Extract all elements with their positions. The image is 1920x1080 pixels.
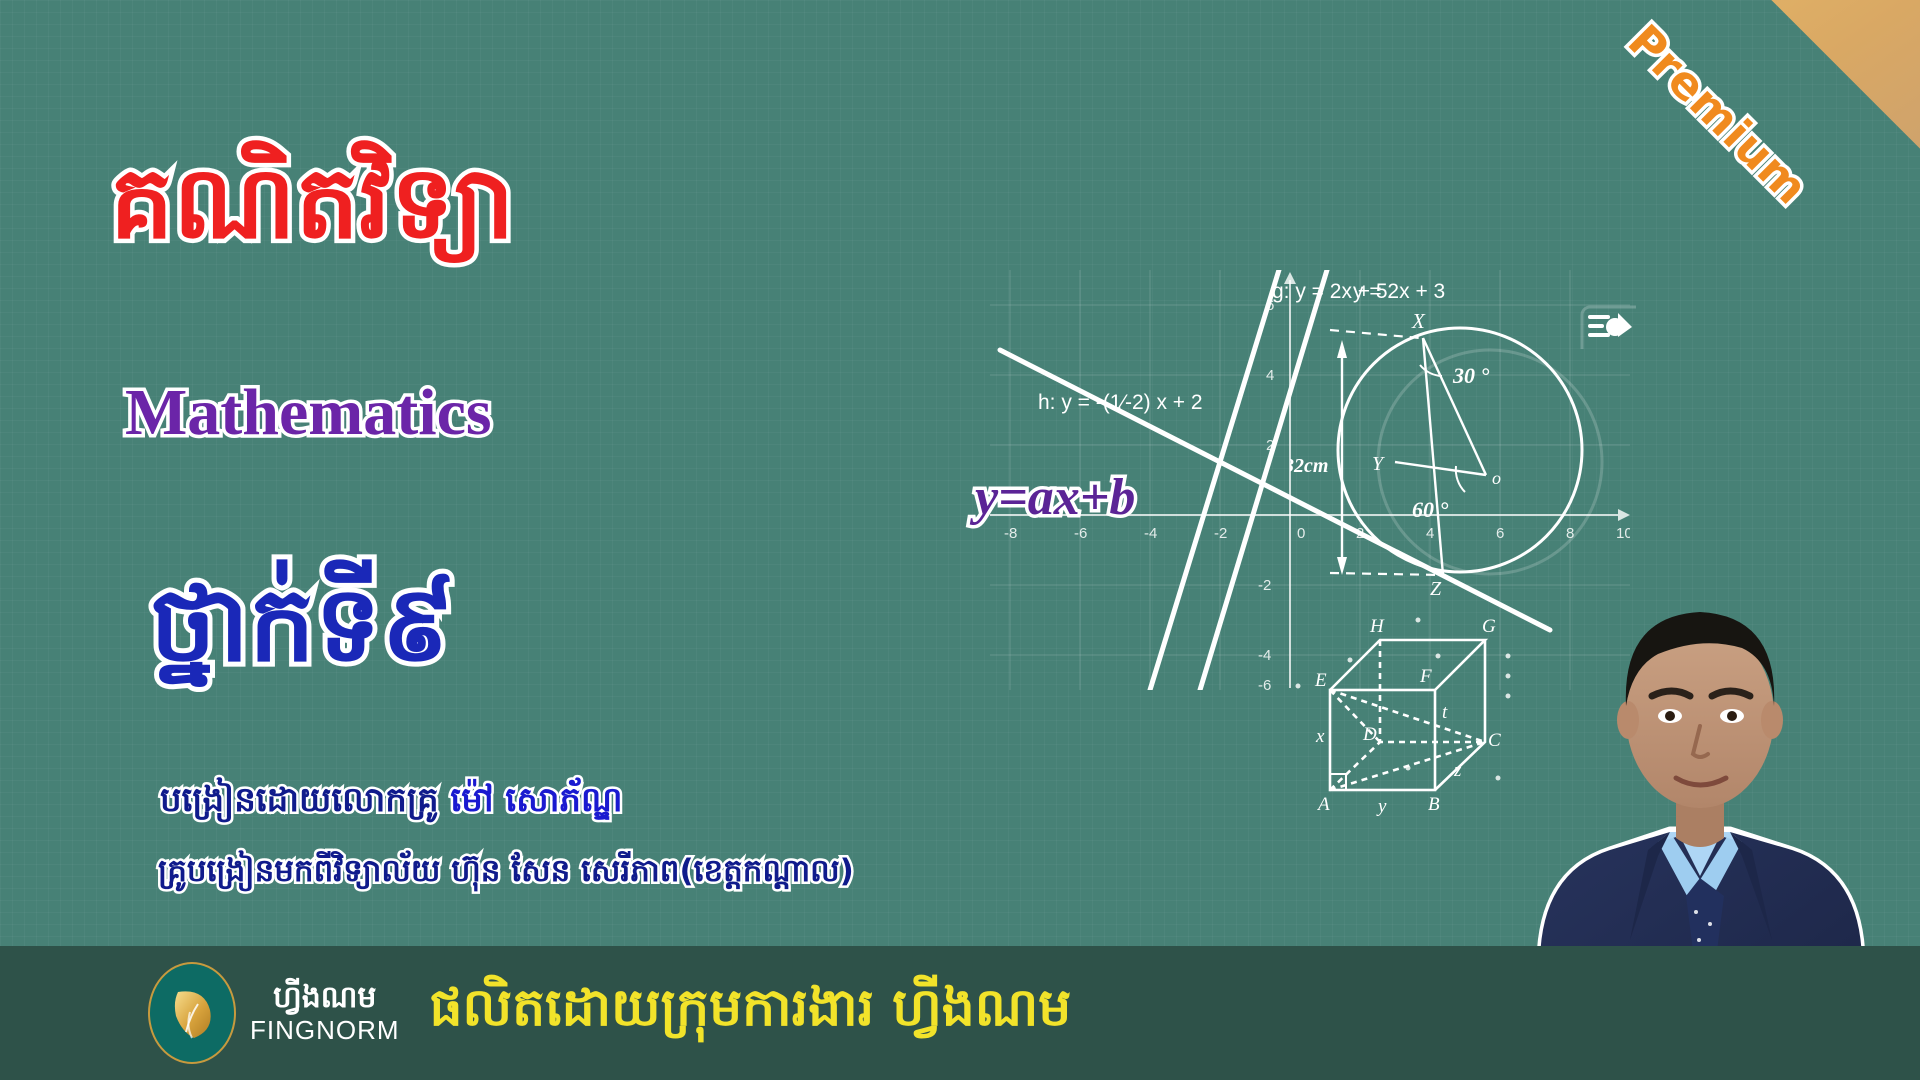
grade-label: ថ្នាក់ទី៩ [150,570,455,679]
svg-text:-8: -8 [1004,525,1017,542]
fingnorm-logo-text: ហ្វីងណម FINGNORM [250,983,400,1043]
cube-edge-z: z [1453,760,1462,781]
svg-text:-4: -4 [1144,525,1157,542]
slide-canvas: -8 -6 -4 -2 0 2 4 6 8 10 6 4 2 -2 -4 -6 … [0,0,1920,1080]
fingnorm-logo-icon [148,962,236,1064]
teacher-credit-line: បង្រៀនដោយលោកគ្រូ ម៉ៅ សោភ័ណ្ឌ [160,778,622,828]
svg-text:-6: -6 [1258,677,1271,690]
angle-30: 30 ° [1452,363,1490,388]
label-Y: Y [1372,453,1385,475]
page-title-english: Mathematics [125,375,492,451]
logo-khmer-name: ហ្វីងណម [273,983,376,1013]
cube-label-F: F [1419,666,1432,687]
label-X: X [1411,309,1426,333]
label-Z: Z [1430,578,1442,600]
svg-text:-6: -6 [1074,525,1087,542]
measure-32cm: 32cm [1290,455,1328,477]
svg-text:4: 4 [1266,367,1274,384]
cube-edge-x: x [1315,726,1325,747]
formula-badge: y=ax+b [975,468,1135,527]
label-o: o [1492,468,1501,488]
cube-label-B: B [1428,794,1440,815]
svg-text:-4: -4 [1258,647,1271,664]
footer-credit-text: ផលិតដោយក្រុមការងារ ហ្វីងណម [430,975,1072,1051]
svg-text:-2: -2 [1214,525,1227,542]
cube-label-E: E [1314,670,1327,691]
premium-ribbon: Premium [1460,0,1920,300]
note-cursor-icon [1580,305,1640,353]
footer-banner: ហ្វីងណម FINGNORM ផលិតដោយក្រុមការងារ ហ្វី… [0,946,1920,1080]
cube-label-A: A [1316,794,1330,815]
school-credit-line: គ្រូបង្រៀនមកពីវិទ្យាល័យ ហ៊ុន សែន សេរីភាព… [158,852,854,897]
angle-60: 60 ° [1412,497,1449,522]
page-title-khmer: គណិតវិទ្យា [110,150,514,255]
teacher-name: ម៉ៅ សោភ័ណ្ឌ [450,780,622,820]
svg-text:2: 2 [1266,437,1274,454]
cube-edge-t: t [1442,702,1448,723]
cube-edge-y: y [1376,796,1387,817]
svg-text:-2: -2 [1258,577,1271,594]
svg-text:6: 6 [1266,297,1274,314]
cube-label-D: D [1362,724,1377,745]
cube-label-H: H [1369,616,1385,637]
logo-english-name: FINGNORM [250,1017,400,1043]
teacher-credit-prefix: បង្រៀនដោយលោកគ្រូ [160,780,450,820]
